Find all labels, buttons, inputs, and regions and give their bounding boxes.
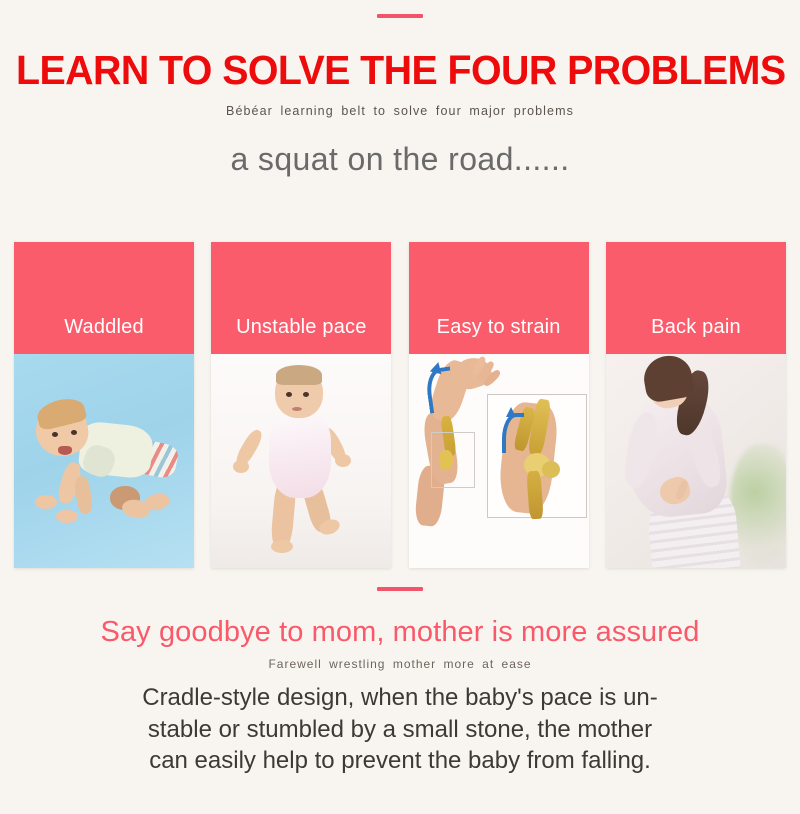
card-label: Waddled: [14, 316, 194, 339]
baby-eye-shape: [52, 432, 58, 437]
footer-headline: Say goodbye to mom, mother is more assur…: [0, 616, 800, 649]
baby-hair-shape: [276, 365, 322, 385]
crawling-baby-photo: [14, 354, 194, 568]
baby-eye-shape: [71, 430, 77, 435]
problem-card[interactable]: Easy to strain: [409, 242, 589, 568]
card-label: Unstable pace: [211, 316, 391, 339]
bottom-divider: [377, 587, 423, 591]
card-header: Back pain: [606, 242, 786, 354]
standing-baby-photo: [211, 354, 391, 568]
baby-hand-shape: [233, 460, 249, 473]
baby-hand-shape: [335, 454, 351, 467]
back-pain-photo: [606, 354, 786, 568]
page-subtitle: Bébéar learning belt to solve four major…: [0, 104, 800, 118]
problem-card-row: Waddled Unsta: [0, 242, 800, 568]
tagline: a squat on the road......: [0, 141, 800, 178]
page-title: LEARN TO SOLVE THE FOUR PROBLEMS: [16, 47, 784, 94]
top-divider: [377, 14, 423, 18]
baby-mouth-shape: [58, 446, 72, 455]
card-label: Easy to strain: [409, 316, 589, 339]
card-label: Back pain: [606, 316, 786, 339]
footer-section: Say goodbye to mom, mother is more assur…: [0, 568, 800, 777]
baby-onesie-shape: [269, 412, 331, 498]
card-header: Easy to strain: [409, 242, 589, 354]
anatomy-inset-panel: [487, 394, 587, 518]
problem-card[interactable]: Back pain: [606, 242, 786, 568]
rotation-arrow-icon: [506, 407, 516, 417]
hair-shape: [641, 354, 696, 404]
footer-body-copy: Cradle-style design, when the baby's pac…: [0, 682, 800, 777]
card-header: Waddled: [14, 242, 194, 354]
body-line: stable or stumbled by a small stone, the…: [70, 714, 730, 746]
footer-subhead: Farewell wrestling mother more at ease: [0, 657, 800, 671]
body-line: can easily help to prevent the baby from…: [70, 745, 730, 777]
problem-card[interactable]: Unstable pace: [211, 242, 391, 568]
arm-anatomy-photo: [409, 354, 589, 568]
rotation-arrow-icon: [502, 413, 524, 453]
baby-hand-shape: [35, 495, 57, 509]
baby-hand-shape: [56, 510, 78, 523]
body-line: Cradle-style design, when the baby's pac…: [70, 682, 730, 714]
callout-box: [431, 432, 475, 488]
card-header: Unstable pace: [211, 242, 391, 354]
baby-foot-shape: [271, 540, 293, 553]
joint-shape: [542, 461, 560, 478]
promotional-infographic: LEARN TO SOLVE THE FOUR PROBLEMS Bébéar …: [0, 14, 800, 814]
baby-arm-shape: [73, 475, 93, 515]
problem-card[interactable]: Waddled: [14, 242, 194, 568]
